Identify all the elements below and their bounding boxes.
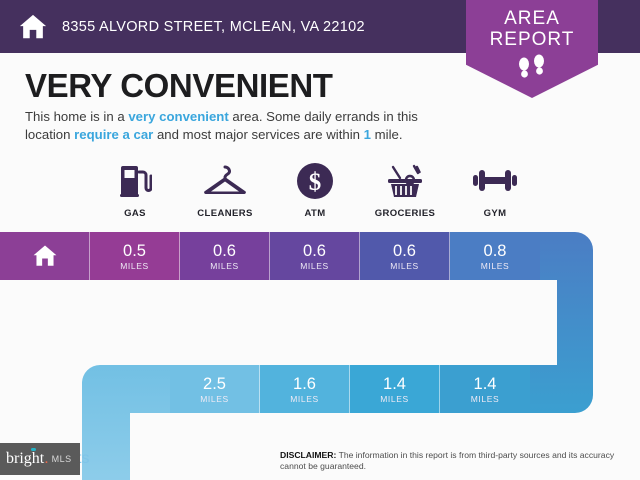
dollar-icon: $: [296, 160, 334, 202]
distance-unit: MILES: [380, 394, 409, 404]
dumbbell-icon: [470, 160, 520, 202]
distance-unit: MILES: [210, 261, 239, 271]
logo-tick-icon: [31, 448, 36, 451]
category-groceries: GROCERIES: [360, 160, 450, 219]
distance-segment-medical: 1.4 MILES: [440, 365, 530, 413]
logo-word: bright: [6, 450, 44, 468]
distance-segment-gas: 0.5 MILES: [90, 232, 180, 280]
area-report-badge: AREA REPORT: [466, 0, 598, 98]
desc-part-4: mile.: [371, 127, 403, 142]
category-cleaners: CLEANERS: [180, 160, 270, 219]
distance-value: 0.5: [123, 242, 146, 260]
home-icon: [18, 12, 48, 42]
footprints-icon: [512, 54, 552, 80]
distance-value: 0.6: [393, 242, 416, 260]
distance-unit: MILES: [200, 394, 229, 404]
distance-value: 0.6: [303, 242, 326, 260]
category-label: ATM: [304, 208, 325, 219]
badge-line-2: REPORT: [490, 29, 575, 50]
distance-segment-gym: 0.8 MILES: [450, 232, 540, 280]
distance-ribbon: 0.5 MILES 0.6 MILES 0.6 MILES 0.6 MILES …: [0, 225, 640, 480]
desc-highlight-1: very convenient: [128, 109, 228, 124]
distance-value: 2.5: [203, 375, 226, 393]
category-gas: GAS: [90, 160, 180, 219]
desc-part-3: and most major services are within: [153, 127, 363, 142]
distance-unit: MILES: [120, 261, 149, 271]
distance-value: 0.8: [484, 242, 507, 260]
category-icon-row-1: GAS CLEANERS $ ATM: [90, 160, 640, 219]
gas-pump-icon: [118, 160, 152, 202]
distance-value: 1.4: [383, 375, 406, 393]
logo-dot-icon: .: [44, 450, 48, 468]
distance-unit: MILES: [300, 261, 329, 271]
distance-row-2: 2.5 MILES 1.6 MILES 1.4 MILES 1.4 MILES: [170, 365, 540, 413]
page-description: This home is in a very convenient area. …: [25, 108, 455, 143]
distance-segment-cleaners: 0.6 MILES: [180, 232, 270, 280]
svg-text:$: $: [309, 169, 322, 196]
distance-unit: MILES: [471, 394, 500, 404]
home-segment: [0, 232, 90, 280]
area-report-page: 8355 ALVORD STREET, MCLEAN, VA 22102 ARE…: [0, 0, 640, 480]
distance-segment-pharmacy: 1.4 MILES: [350, 365, 440, 413]
middle-white-card: [0, 280, 550, 365]
basket-icon: [384, 160, 426, 202]
distance-row-1: 0.5 MILES 0.6 MILES 0.6 MILES 0.6 MILES …: [0, 232, 540, 280]
distance-segment-atm: 0.6 MILES: [270, 232, 360, 280]
disclaimer: DISCLAIMER: The information in this repo…: [280, 450, 630, 472]
category-label: CLEANERS: [197, 208, 252, 219]
category-label: GYM: [484, 208, 507, 219]
category-gym: GYM: [450, 160, 540, 219]
desc-part-1: This home is in a: [25, 109, 128, 124]
logo-subtitle: MLS: [52, 454, 72, 464]
distance-value: 1.4: [474, 375, 497, 393]
distance-segment-coffee: 1.6 MILES: [260, 365, 350, 413]
distance-unit: MILES: [481, 261, 510, 271]
disclaimer-label: DISCLAIMER:: [280, 450, 336, 460]
property-address: 8355 ALVORD STREET, MCLEAN, VA 22102: [62, 19, 365, 35]
distance-unit: MILES: [390, 261, 419, 271]
desc-highlight-2: require a car: [74, 127, 153, 142]
category-label: GROCERIES: [375, 208, 436, 219]
desc-highlight-3: 1: [364, 127, 371, 142]
distance-segment-groceries: 0.6 MILES: [360, 232, 450, 280]
home-icon: [32, 243, 58, 269]
distance-segment-movie-theater: 2.5 MILES: [170, 365, 260, 413]
distance-value: 1.6: [293, 375, 316, 393]
badge-line-1: AREA: [504, 8, 560, 29]
bright-mls-logo: bright . MLS: [0, 443, 80, 475]
hanger-icon: [202, 160, 248, 202]
category-atm: $ ATM: [270, 160, 360, 219]
category-label: GAS: [124, 208, 146, 219]
distance-value: 0.6: [213, 242, 236, 260]
distance-unit: MILES: [290, 394, 319, 404]
page-title: VERY CONVENIENT: [25, 67, 333, 105]
